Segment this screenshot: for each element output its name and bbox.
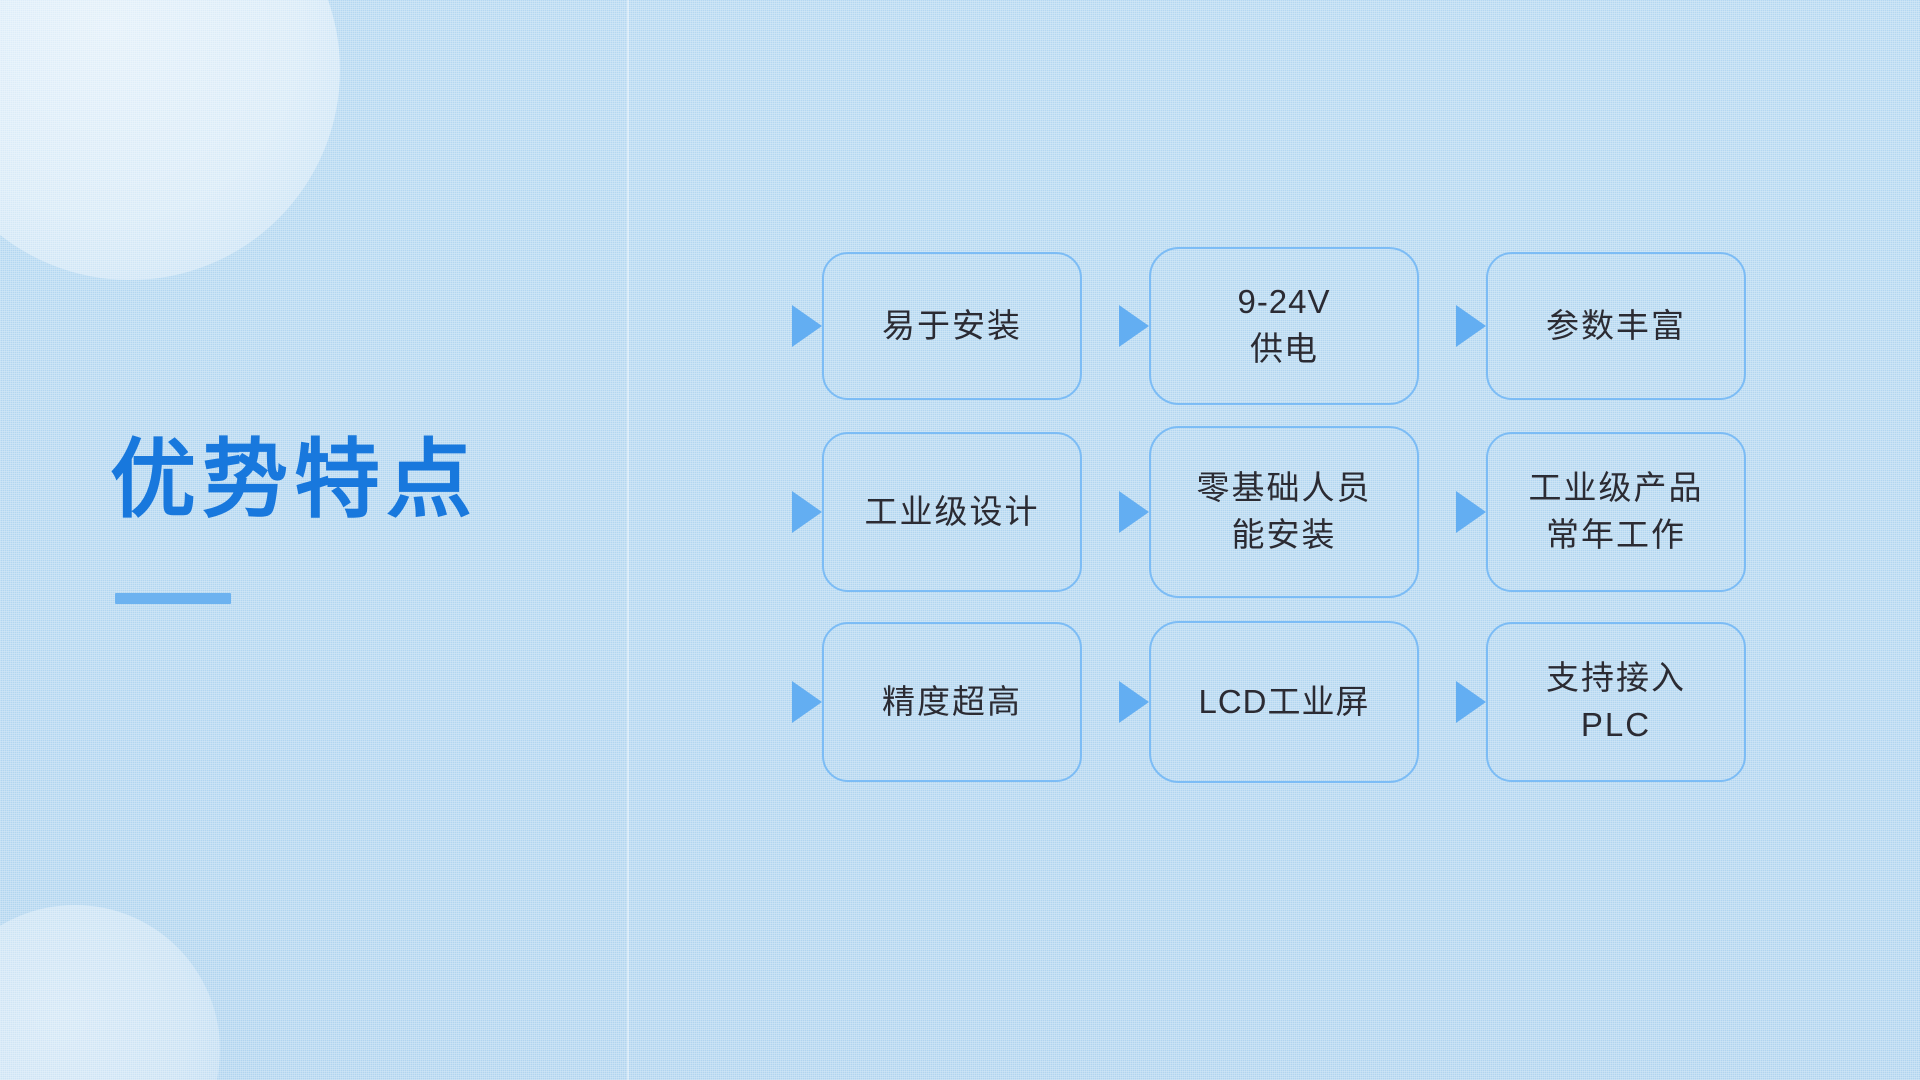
card-label: 参数丰富 [1546,303,1686,350]
decorative-circle-bottom-left [0,905,220,1080]
card-cell: 零基础人员 能安装 [1149,422,1419,602]
card-cell: LCD工业屏 [1149,612,1419,792]
card-cell: 9-24V 供电 [1149,240,1419,412]
card-cell: 精度超高 [822,612,1082,792]
decorative-circle-top-left [0,0,340,280]
card-label: 零基础人员 能安装 [1197,465,1372,559]
card-high-precision[interactable]: 精度超高 [822,622,1082,782]
card-cell: 工业级设计 [822,422,1082,602]
card-label: 精度超高 [882,679,1022,726]
title-underline [115,593,231,604]
card-power-supply[interactable]: 9-24V 供电 [1149,247,1419,405]
card-label: 支持接入 PLC [1546,655,1686,749]
card-easy-install[interactable]: 易于安装 [822,252,1082,400]
card-cell: 参数丰富 [1486,240,1746,412]
card-label: LCD工业屏 [1198,679,1369,726]
play-triangle-icon [792,491,822,533]
play-triangle-icon [1119,305,1149,347]
play-triangle-icon [1456,681,1486,723]
feature-card-grid: 易于安装 9-24V 供电 参数丰富 工业级设计 零基 [822,240,1762,840]
play-triangle-icon [1119,491,1149,533]
card-industrial-design[interactable]: 工业级设计 [822,432,1082,592]
card-label: 工业级产品 常年工作 [1529,465,1704,559]
card-label: 9-24V 供电 [1237,279,1330,373]
slide-canvas: 优势特点 易于安装 9-24V 供电 参数丰富 [0,0,1920,1080]
card-label: 工业级设计 [865,489,1040,536]
play-triangle-icon [792,681,822,723]
play-triangle-icon [1119,681,1149,723]
play-triangle-icon [1456,491,1486,533]
page-title: 优势特点 [110,430,580,531]
play-triangle-icon [1456,305,1486,347]
section-divider [627,0,629,1080]
card-cell: 支持接入 PLC [1486,612,1746,792]
title-block: 优势特点 [110,430,580,604]
play-triangle-icon [792,305,822,347]
card-label: 易于安装 [882,303,1022,350]
card-cell: 工业级产品 常年工作 [1486,422,1746,602]
card-zero-skill-install[interactable]: 零基础人员 能安装 [1149,426,1419,598]
card-lcd-screen[interactable]: LCD工业屏 [1149,621,1419,783]
card-cell: 易于安装 [822,240,1082,412]
card-industrial-product[interactable]: 工业级产品 常年工作 [1486,432,1746,592]
card-rich-parameters[interactable]: 参数丰富 [1486,252,1746,400]
card-plc-support[interactable]: 支持接入 PLC [1486,622,1746,782]
